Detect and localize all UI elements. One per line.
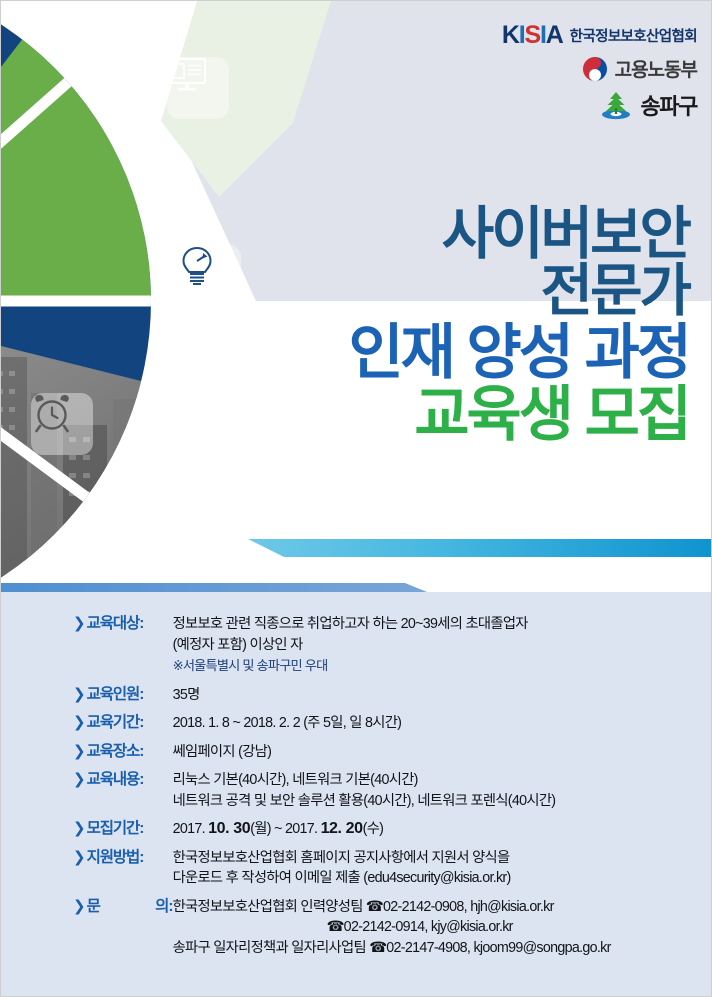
chevron-right-icon: ❯ — [73, 819, 86, 839]
monitor-icon-tile — [167, 57, 229, 119]
info-row-label: 문 의: — [87, 897, 173, 917]
logo-songpa: 송파구 — [599, 89, 697, 121]
info-row-label: 교육인원: — [87, 685, 173, 705]
monitor-icon — [167, 57, 207, 93]
taegeuk-icon — [582, 56, 608, 82]
info-row-value: 리눅스 기본(40시간), 네트워크 기본(40시간)네트워크 공격 및 보안 … — [173, 770, 698, 811]
info-row-list: ❯교육대상:정보보호 관련 직종으로 취업하고자 하는 20~39세의 초대졸업… — [73, 614, 698, 966]
title-line-4: 교육생 모집 — [348, 386, 689, 444]
info-row: ❯지원방법:한국정보보호산업협회 홈페이지 공지사항에서 지원서 양식을다운로드… — [73, 848, 698, 889]
chevron-right-icon: ❯ — [73, 713, 86, 733]
info-row-value: 2018. 1. 8 ~ 2018. 2. 2 (주 5일, 일 8시간) — [173, 713, 698, 734]
chevron-right-icon: ❯ — [73, 614, 86, 634]
info-row-label: 모집기간: — [87, 819, 173, 839]
info-row: ❯문 의:한국정보보호산업협회 인력양성팀 ☎02-2142-0908, hjh… — [73, 897, 698, 959]
info-row-label: 교육장소: — [87, 742, 173, 762]
contact-line: 한국정보보호산업협회 인력양성팀 ☎02-2142-0908, hjh@kisi… — [173, 897, 698, 918]
pine-tree-icon — [599, 90, 633, 120]
logo-molab: 고용노동부 — [582, 55, 697, 82]
cyan-accent-bar — [248, 539, 712, 557]
contact-line: ☎02-2142-0914, kjy@kisia.or.kr — [173, 917, 698, 938]
title-line-1: 사이버보안 — [348, 207, 689, 262]
alarm-clock-icon — [31, 393, 73, 435]
info-row: ❯교육기간:2018. 1. 8 ~ 2018. 2. 2 (주 5일, 일 8… — [73, 713, 698, 734]
logo-group: KISIA 한국정보보호산업협회 고용노동부 송파구 — [437, 23, 697, 121]
kisia-logo-icon: KISIA — [502, 23, 563, 48]
title-line-3: 인재 양성 과정 — [348, 324, 689, 382]
chevron-right-icon: ❯ — [73, 848, 86, 868]
lightbulb-icon-tile — [179, 245, 241, 307]
page-title: 사이버보안 전문가 인재 양성 과정 교육생 모집 — [348, 207, 689, 444]
info-row-value: 2017. 10. 30(월) ~ 2017. 12. 20(수) — [173, 819, 698, 840]
info-row-value: 정보보호 관련 직종으로 취업하고자 하는 20~39세의 초대졸업자(예정자 … — [173, 614, 698, 677]
info-panel: ❯교육대상:정보보호 관련 직종으로 취업하고자 하는 20~39세의 초대졸업… — [1, 592, 712, 997]
chevron-right-icon: ❯ — [73, 770, 86, 790]
molab-logo-label: 고용노동부 — [615, 55, 697, 82]
poster-root: KISIA 한국정보보호산업협회 고용노동부 송파구 — [0, 0, 712, 997]
info-row-label: 교육기간: — [87, 713, 173, 733]
logo-kisia: KISIA 한국정보보호산업협회 — [502, 23, 697, 48]
title-line-2: 전문가 — [348, 264, 689, 319]
info-row: ❯교육대상:정보보호 관련 직종으로 취업하고자 하는 20~39세의 초대졸업… — [73, 614, 698, 677]
chevron-right-icon: ❯ — [73, 897, 86, 917]
contact-line: 송파구 일자리정책과 일자리사업팀 ☎02-2147-4908, kjoom99… — [173, 938, 698, 959]
info-row-value: 쎄임페이지 (강남) — [173, 742, 698, 763]
kisia-logo-label: 한국정보보호산업협회 — [570, 25, 697, 46]
chevron-right-icon: ❯ — [73, 685, 86, 705]
info-row-note: ※서울특별시 및 송파구민 우대 — [173, 656, 698, 677]
info-row-label: 교육대상: — [87, 614, 173, 634]
info-row: ❯교육내용:리눅스 기본(40시간), 네트워크 기본(40시간)네트워크 공격… — [73, 770, 698, 811]
info-row-label: 교육내용: — [87, 770, 173, 790]
info-row-label: 지원방법: — [87, 848, 173, 868]
info-row: ❯교육장소:쎄임페이지 (강남) — [73, 742, 698, 763]
info-row-value: 한국정보보호산업협회 홈페이지 공지사항에서 지원서 양식을다운로드 후 작성하… — [173, 848, 698, 889]
info-row-value: 한국정보보호산업협회 인력양성팀 ☎02-2142-0908, hjh@kisi… — [173, 897, 698, 959]
songpa-logo-label: 송파구 — [640, 89, 697, 121]
chevron-right-icon: ❯ — [73, 742, 86, 762]
info-row-value: 35명 — [173, 685, 698, 706]
alarm-clock-icon-tile — [31, 393, 93, 455]
info-row: ❯교육인원:35명 — [73, 685, 698, 706]
lightbulb-icon — [179, 245, 215, 287]
info-row: ❯모집기간:2017. 10. 30(월) ~ 2017. 12. 20(수) — [73, 819, 698, 840]
